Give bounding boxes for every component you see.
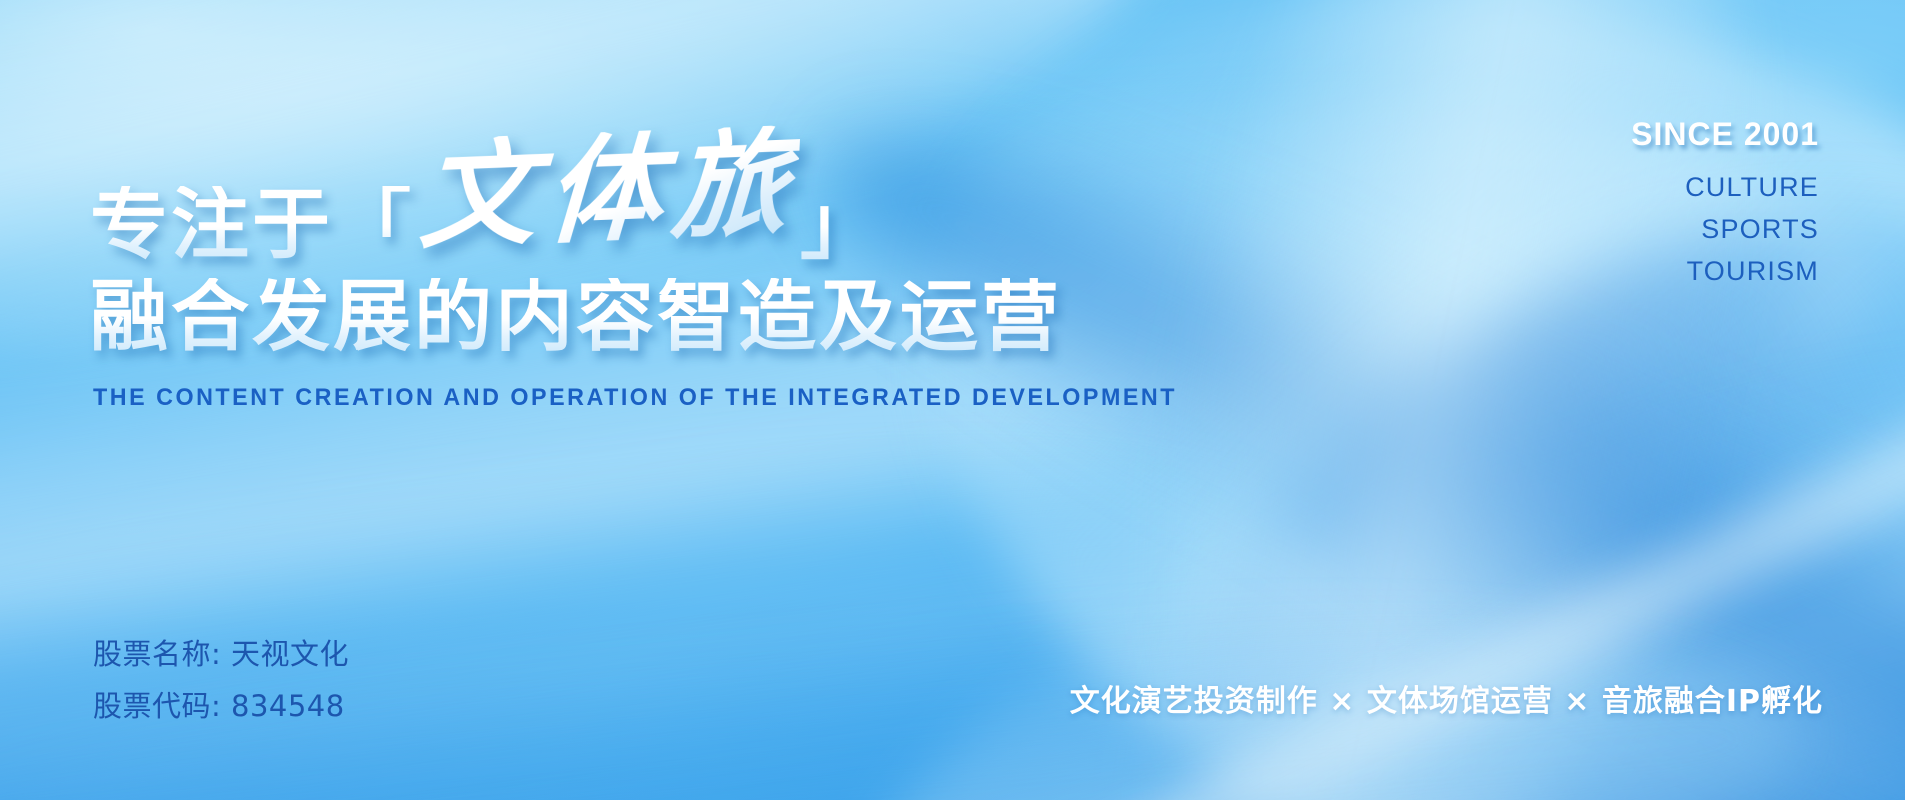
since-year-label: SINCE 2001 — [1631, 118, 1819, 150]
headline-line-1: 专注于「 文体旅 」 — [90, 148, 1062, 264]
headline-line-2: 融合发展的内容智造及运营 — [90, 278, 1062, 356]
headline-brush-text: 文体旅 — [417, 125, 800, 256]
headline-prefix-text: 专注于「 — [90, 186, 414, 264]
promotional-banner: 专注于「 文体旅 」 融合发展的内容智造及运营 THE CONTENT CREA… — [0, 0, 1905, 800]
pillar-culture: CULTURE — [1631, 174, 1819, 201]
banner-content: 专注于「 文体旅 」 融合发展的内容智造及运营 THE CONTENT CREA… — [0, 0, 1905, 800]
stock-info-block: 股票名称: 天视文化 股票代码: 834548 — [93, 640, 349, 721]
headline-line2-text: 融合发展的内容智造及运营 — [90, 278, 1062, 356]
pillar-tourism: TOURISM — [1631, 258, 1819, 285]
brand-pillars-block: SINCE 2001 CULTURE SPORTS TOURISM — [1631, 118, 1819, 285]
stock-name-line: 股票名称: 天视文化 — [93, 640, 349, 669]
headline-block: 专注于「 文体旅 」 融合发展的内容智造及运营 — [90, 148, 1062, 356]
pillar-sports: SPORTS — [1631, 216, 1819, 243]
business-tagline: 文化演艺投资制作 × 文体场馆运营 × 音旅融合IP孵化 — [1070, 676, 1823, 720]
english-subtitle: THE CONTENT CREATION AND OPERATION OF TH… — [93, 384, 1177, 412]
headline-suffix-text: 」 — [800, 186, 881, 264]
stock-code-line: 股票代码: 834548 — [93, 692, 349, 721]
